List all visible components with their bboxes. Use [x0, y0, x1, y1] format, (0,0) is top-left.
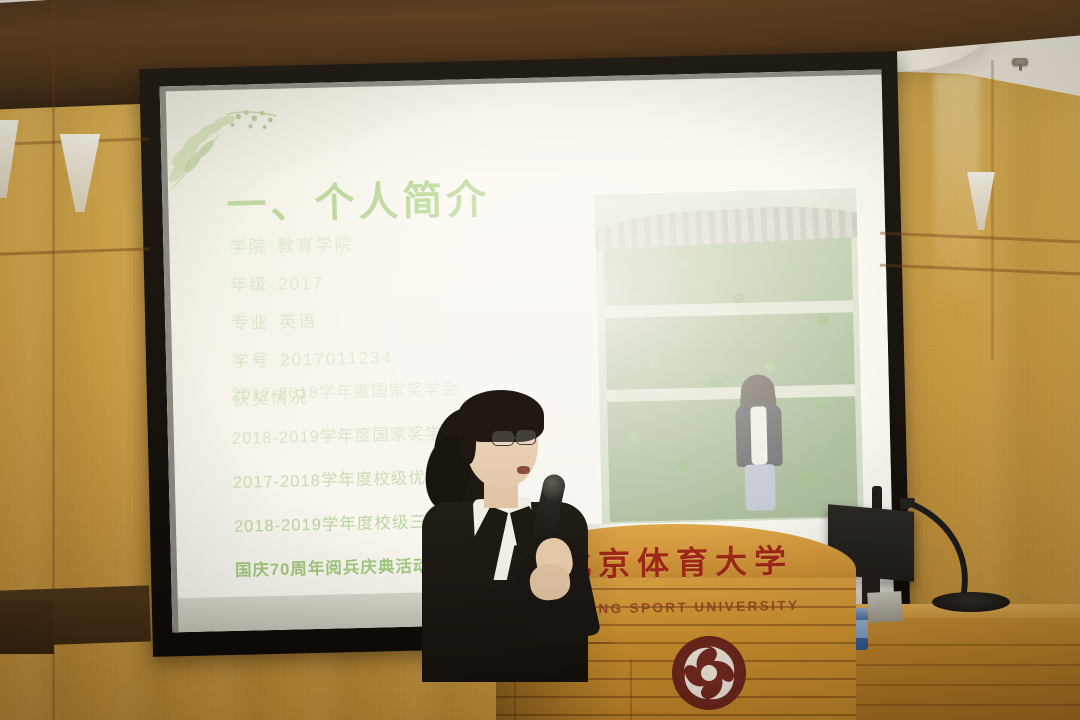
info-label: 年级	[230, 275, 268, 295]
speaker-glasses-lens-right	[516, 430, 536, 445]
info-line: 学号2017011234	[232, 337, 632, 371]
speaker-mouth	[517, 466, 530, 474]
gooseneck-mic-base	[932, 592, 1010, 612]
presentation-scene: 一、个人简介 学院教育学院 年级2017 专业英语 学号2017011234	[0, 0, 1080, 720]
speaker-glasses-lens-left	[492, 431, 514, 446]
photo-person	[727, 378, 792, 509]
slide-title: 一、个人简介	[226, 167, 491, 231]
speaker-hair-side	[458, 408, 476, 464]
speaker-person	[418, 378, 618, 678]
info-line: 年级2017	[230, 262, 630, 296]
info-label: 专业	[231, 313, 269, 333]
microphone-head	[540, 472, 567, 502]
info-value: 2017	[278, 274, 324, 294]
paper-stack	[867, 591, 903, 623]
wall-band-dark-left-corner	[0, 602, 54, 654]
info-label: 学号	[232, 351, 270, 371]
photo-person-legs	[745, 464, 776, 511]
info-value: 教育学院	[277, 235, 353, 256]
slide-photo	[594, 188, 864, 524]
info-value: 2017011234	[280, 348, 394, 370]
bsu-logo-icon	[672, 636, 746, 710]
wall-seam-vertical-right	[991, 60, 994, 360]
info-line: 专业英语	[231, 299, 631, 333]
info-value: 英语	[279, 312, 317, 332]
ceiling-light-icon	[1012, 58, 1028, 66]
photo-person-shirt	[750, 406, 767, 464]
info-label: 学院	[229, 237, 267, 257]
speaker-glasses-bridge	[513, 437, 518, 439]
